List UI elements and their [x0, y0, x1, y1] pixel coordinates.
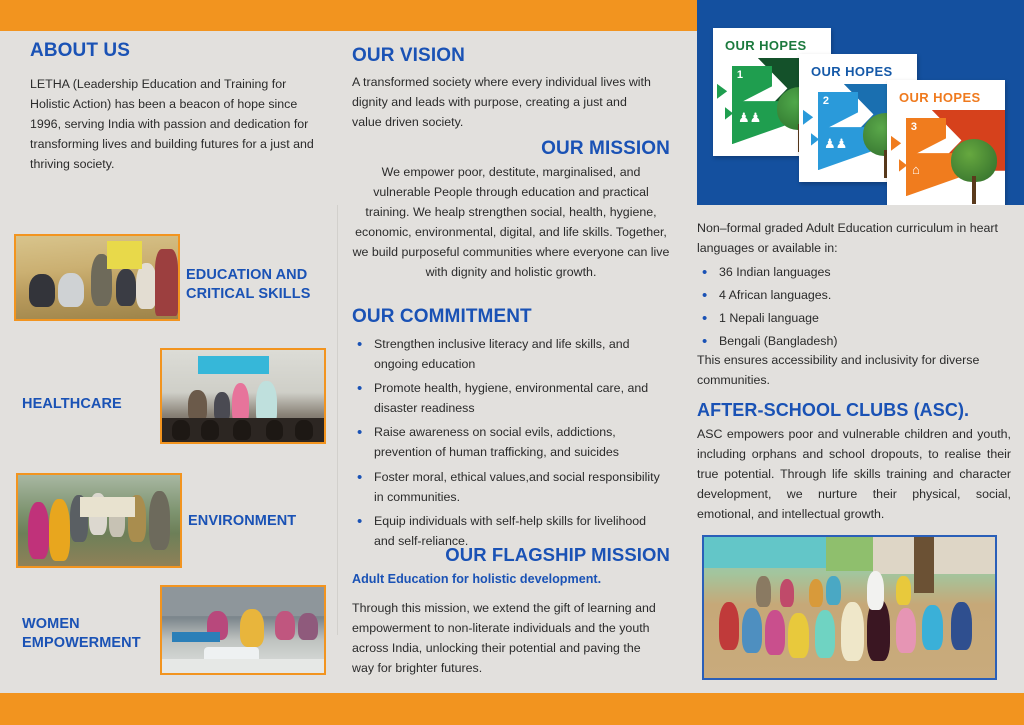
left-column: ABOUT US LETHA (Leadership Education and… [30, 40, 330, 174]
about-us-title: ABOUT US [30, 40, 330, 62]
accessibility-text: This ensures accessibility and inclusivi… [697, 350, 1013, 390]
hero-blue-panel: OUR HOPES 1 ♟♟ OUR HOPES [697, 0, 1024, 205]
about-us-body: LETHA (Leadership Education and Training… [30, 74, 322, 174]
photo-label-environment: ENVIRONMENT [188, 512, 296, 531]
list-item: 1 Nepali language [697, 308, 1009, 328]
hope-card-1-number: 1 [737, 69, 743, 81]
list-item: Strengthen inclusive literacy and life s… [352, 334, 668, 374]
our-vision-body: A transformed society where every indivi… [352, 72, 652, 132]
flagship-mission-subtitle: Adult Education for holistic development… [352, 572, 670, 586]
photo-environment [16, 473, 182, 568]
photo-children-circle [702, 535, 997, 680]
list-item: Raise awareness on social evils, addicti… [352, 422, 668, 462]
our-mission-body: We empower poor, destitute, marginalised… [352, 162, 670, 283]
bottom-orange-bar [0, 693, 1024, 725]
photo-label-women: WOMEN EMPOWERMENT [22, 615, 141, 652]
language-list: 36 Indian languages 4 African languages.… [697, 262, 1009, 354]
after-school-clubs-body: ASC empowers poor and vulnerable childre… [697, 424, 1011, 524]
list-item: Promote health, hygiene, environmental c… [352, 378, 668, 418]
our-vision-title: OUR VISION [352, 45, 465, 67]
photo-education [14, 234, 180, 321]
fruit-tree-photo [948, 139, 1000, 204]
photo-healthcare [160, 348, 326, 444]
our-mission-title: OUR MISSION [352, 138, 670, 160]
hope-card-2-title: OUR HOPES [811, 64, 893, 79]
hope-card-1-title: OUR HOPES [725, 38, 807, 53]
hope-card-3: OUR HOPES 3 ⌂ [887, 80, 1005, 205]
flagship-mission-title: OUR FLAGSHIP MISSION [352, 544, 670, 566]
photo-women-empowerment [160, 585, 326, 675]
hope-card-3-art: 3 ⌂ [887, 110, 1005, 205]
hope-card-3-title: OUR HOPES [899, 90, 981, 105]
top-orange-bar [0, 0, 697, 31]
column-divider [337, 205, 338, 635]
our-commitment-title: OUR COMMITMENT [352, 306, 532, 328]
list-item: Bengali (Bangladesh) [697, 331, 1009, 351]
language-intro-text: Non–formal graded Adult Education curric… [697, 218, 1011, 258]
list-item: Foster moral, ethical values,and social … [352, 467, 668, 507]
list-item: 4 African languages. [697, 285, 1009, 305]
hope-card-2-number: 2 [823, 95, 829, 107]
commitment-list: Strengthen inclusive literacy and life s… [352, 334, 668, 555]
after-school-clubs-title: AFTER-SCHOOL CLUBS (ASC). [697, 400, 969, 421]
photo-label-education: EDUCATION AND CRITICAL SKILLS [186, 266, 310, 303]
brochure-page: OUR HOPES 1 ♟♟ OUR HOPES [0, 0, 1024, 725]
hope-card-3-number: 3 [911, 121, 917, 133]
photo-label-healthcare: HEALTHCARE [22, 395, 122, 414]
flagship-mission-body: Through this mission, we extend the gift… [352, 598, 662, 678]
list-item: 36 Indian languages [697, 262, 1009, 282]
